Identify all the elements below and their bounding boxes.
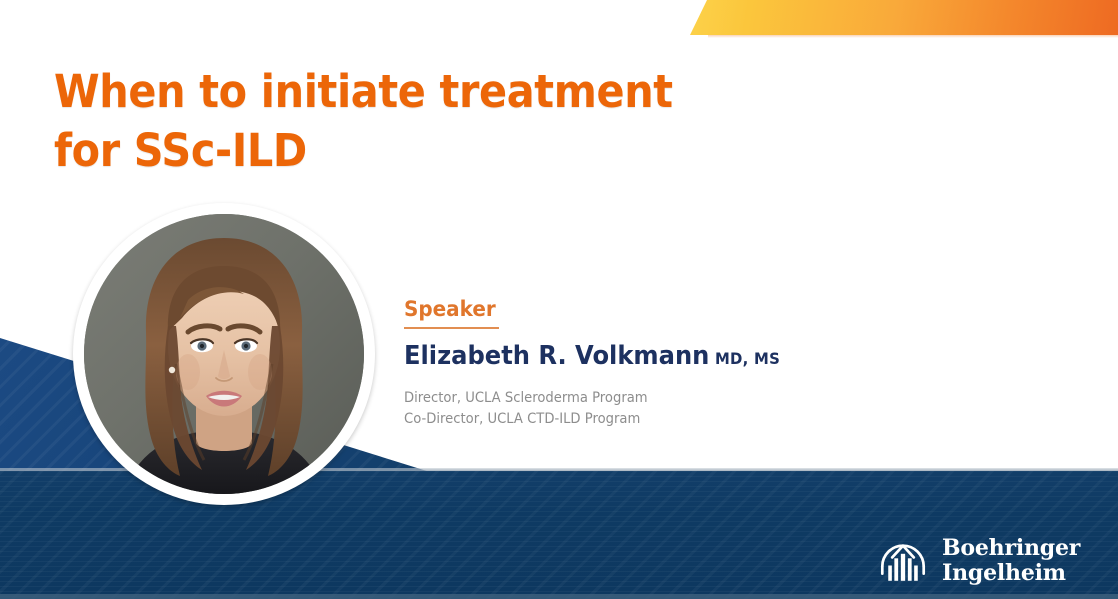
page-title: When to initiate treatment for SSc-ILD	[54, 62, 698, 181]
speaker-affiliations: Director, UCLA Scleroderma Program Co-Di…	[404, 388, 648, 429]
top-accent-banner	[690, 0, 1118, 35]
footer-bottom-edge	[0, 594, 1118, 599]
speaker-name: Elizabeth R. VolkmannMD, MS	[404, 341, 780, 371]
brand-name: Boehringer Ingelheim	[942, 536, 1080, 585]
boehringer-ingelheim-mark-icon	[876, 534, 930, 588]
avatar-photo	[84, 214, 364, 494]
speaker-degrees: MD, MS	[715, 349, 780, 368]
brand-logo: Boehringer Ingelheim	[876, 531, 1076, 591]
avatar	[73, 203, 375, 505]
top-accent-banner-shadow	[708, 35, 1118, 38]
speaker-label: Speaker	[404, 297, 496, 321]
speaker-name-text: Elizabeth R. Volkmann	[404, 341, 709, 371]
portrait-illustration	[84, 214, 364, 494]
presentation-slide: When to initiate treatment for SSc-ILD	[0, 0, 1118, 599]
speaker-label-underline	[404, 327, 499, 329]
